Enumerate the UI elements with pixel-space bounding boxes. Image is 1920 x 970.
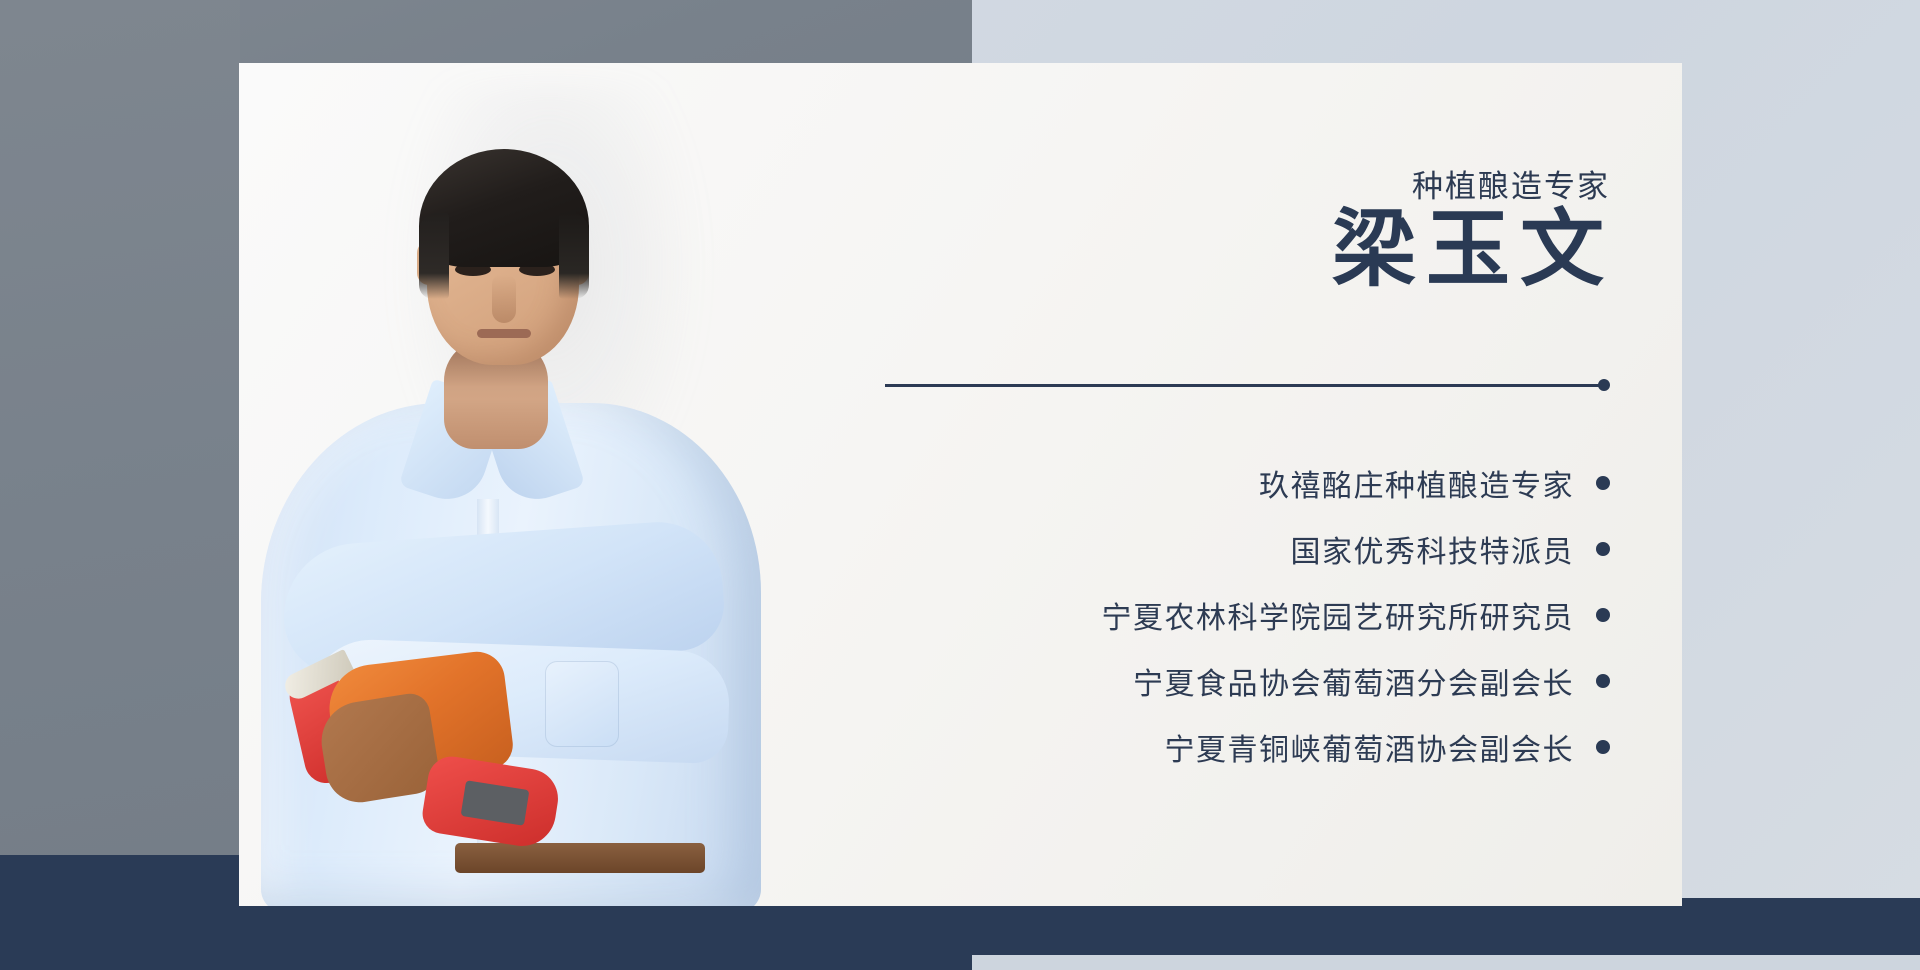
portrait-nose [492, 275, 516, 323]
credential-item: 玖禧酩庄种植酿造专家 [1259, 461, 1610, 505]
portrait-belt [455, 843, 705, 873]
portrait-hair-side-right [559, 213, 589, 299]
expert-portrait-photo [239, 63, 859, 906]
credential-item: 宁夏青铜峡葡萄酒协会副会长 [1165, 725, 1611, 769]
divider-line [885, 384, 1603, 387]
background-bottom-light-strip [972, 955, 1920, 970]
background-gray-left-block [0, 0, 240, 858]
credential-item: 宁夏食品协会葡萄酒分会副会长 [1133, 659, 1610, 703]
credential-item: 国家优秀科技特派员 [1291, 527, 1611, 571]
profile-text-column: 种植酿造专家 梁玉文 玖禧酩庄种植酿造专家国家优秀科技特派员宁夏农林科学院园艺研… [859, 63, 1682, 906]
profile-card: 种植酿造专家 梁玉文 玖禧酩庄种植酿造专家国家优秀科技特派员宁夏农林科学院园艺研… [239, 63, 1682, 906]
credential-label: 国家优秀科技特派员 [1291, 527, 1575, 571]
poster-canvas: 种植酿造专家 梁玉文 玖禧酩庄种植酿造专家国家优秀科技特派员宁夏农林科学院园艺研… [0, 0, 1920, 970]
bullet-dot-icon [1596, 476, 1610, 490]
expert-subtitle: 种植酿造专家 [1412, 161, 1610, 206]
bullet-dot-icon [1596, 608, 1610, 622]
divider [885, 379, 1610, 391]
portrait-shirt-cuff [545, 661, 619, 747]
divider-end-dot [1598, 379, 1610, 391]
credential-item: 宁夏农林科学院园艺研究所研究员 [1102, 593, 1611, 637]
expert-name: 梁玉文 [1332, 203, 1614, 300]
bullet-dot-icon [1596, 674, 1610, 688]
credential-label: 宁夏农林科学院园艺研究所研究员 [1102, 593, 1575, 637]
credential-label: 玖禧酩庄种植酿造专家 [1259, 461, 1574, 505]
credential-label: 宁夏青铜峡葡萄酒协会副会长 [1165, 725, 1575, 769]
bullet-dot-icon [1596, 542, 1610, 556]
credential-label: 宁夏食品协会葡萄酒分会副会长 [1133, 659, 1574, 703]
portrait-mouth [477, 329, 531, 338]
credentials-list: 玖禧酩庄种植酿造专家国家优秀科技特派员宁夏农林科学院园艺研究所研究员宁夏食品协会… [870, 461, 1610, 769]
bullet-dot-icon [1596, 740, 1610, 754]
portrait-hair-side-left [419, 213, 449, 299]
